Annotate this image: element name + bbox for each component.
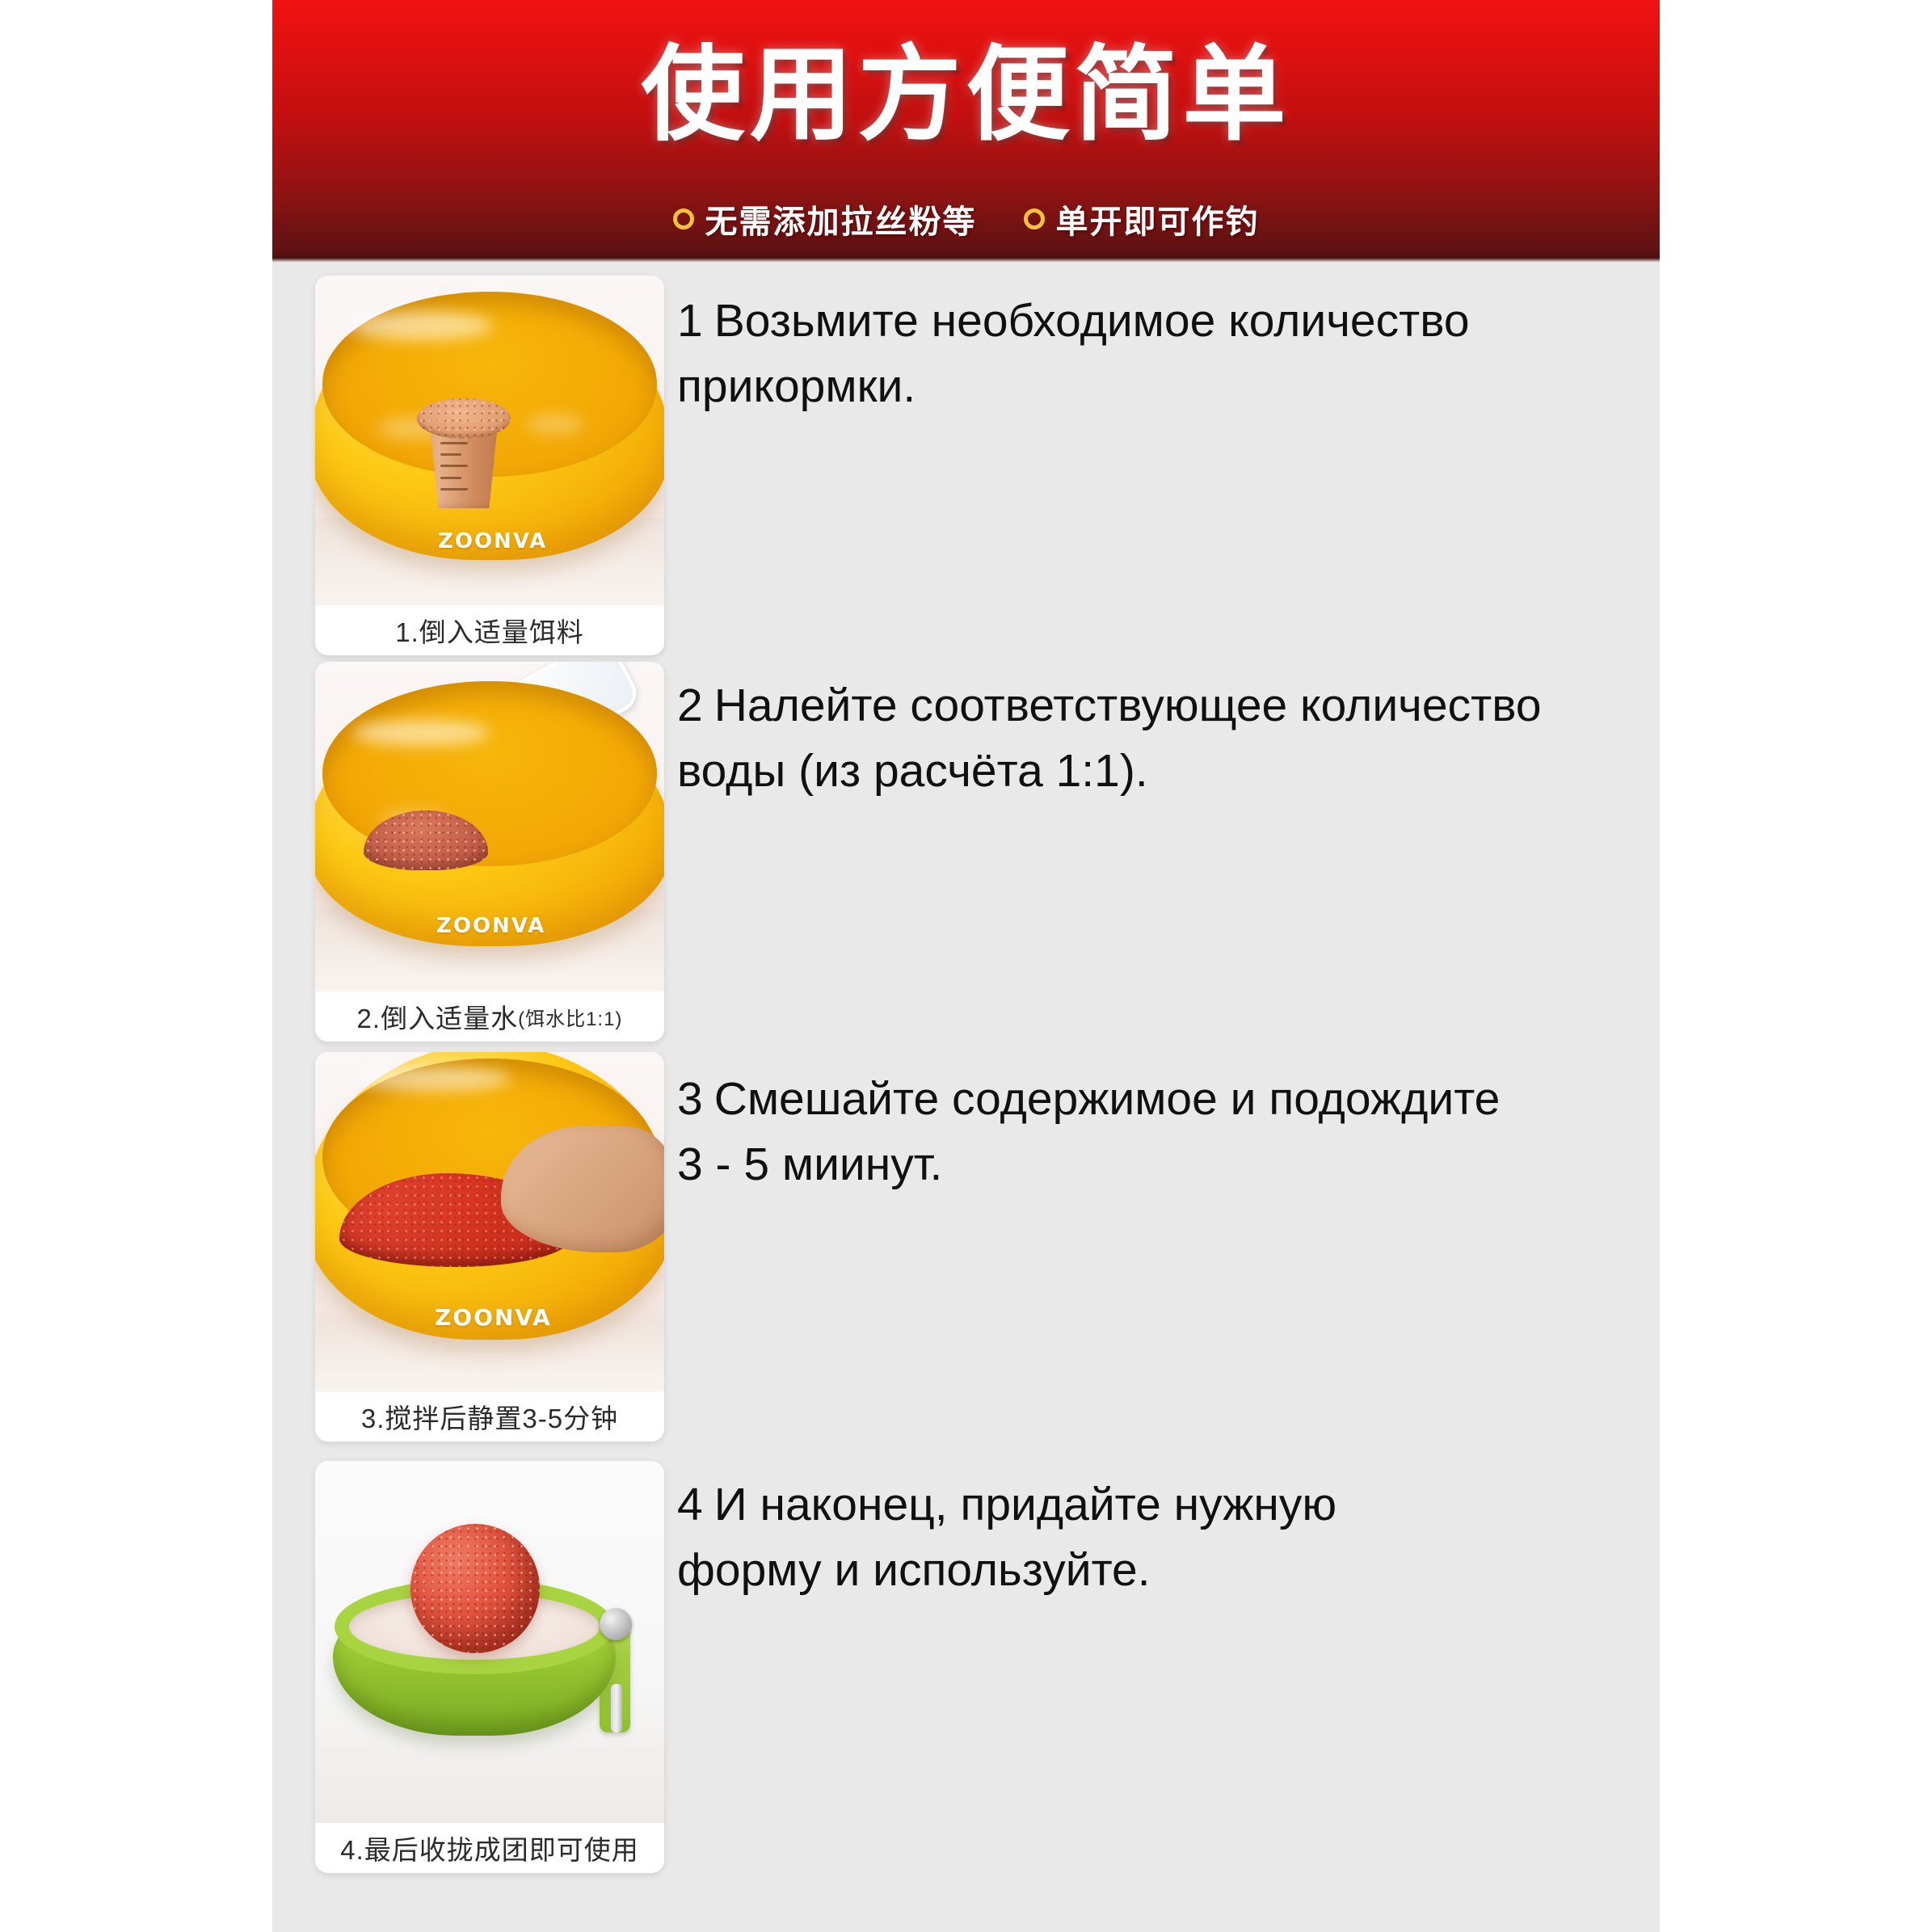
step-4-photo: [315, 1461, 664, 1823]
step-4-card: 4.最后收拢成团即可使用: [315, 1461, 664, 1873]
step-3-number: 3: [677, 1073, 703, 1125]
mold-pin: [600, 1608, 632, 1640]
step-4-text: 4И наконец, придайте нужную форму и испо…: [677, 1472, 1550, 1603]
step-3-line-1: Смешайте содержимое и подождите: [714, 1073, 1501, 1125]
step-2-caption-small: (饵水比1:1): [518, 1003, 622, 1031]
step-2-card: ZOONVA 2.倒入适量水(饵水比1:1): [315, 662, 664, 1042]
banner-bullet-2: 单开即可作钓: [1024, 196, 1260, 242]
step-3-caption-main: 3.搅拌后静置3-5分钟: [361, 1397, 618, 1436]
step-1-caption-main: 1.倒入适量饵料: [395, 611, 584, 650]
page-root: 使用方便简单 无需添加拉丝粉等 单开即可作钓: [0, 0, 1932, 1932]
step-2-text: 2Налейте соответствующее количество воды…: [677, 673, 1647, 804]
step-2-caption-main: 2.倒入适量水: [357, 997, 519, 1036]
step-4-caption: 4.最后收拢成团即可使用: [315, 1823, 664, 1873]
step-4-caption-main: 4.最后收拢成团即可使用: [340, 1829, 639, 1867]
banner-title: 使用方便简单: [272, 36, 1660, 154]
step-2-caption: 2.倒入适量水(饵水比1:1): [315, 991, 664, 1042]
hand: [501, 1126, 664, 1252]
circle-outline-icon: [673, 208, 694, 229]
step-2-number: 2: [677, 680, 703, 731]
circle-outline-icon: [1024, 208, 1045, 229]
step-3-photo: ZOONVA: [315, 1052, 664, 1391]
banner-bullet-1: 无需添加拉丝粉等: [673, 196, 977, 242]
step-4-number: 4: [677, 1479, 703, 1530]
step-4-line-2: форму и используйте.: [677, 1544, 1151, 1596]
bowl-brand: ZOONVA: [436, 914, 545, 938]
banner-bullet-1-label: 无需添加拉丝粉等: [705, 196, 977, 242]
mold-rod: [611, 1684, 622, 1732]
step-3-card: ZOONVA 3.搅拌后静置3-5分钟: [315, 1052, 664, 1442]
step-3-text: 3Смешайте содержимое и подождите 3 - 5 м…: [677, 1067, 1614, 1198]
step-1-photo: ZOONVA: [315, 276, 664, 605]
promo-banner: 使用方便简单 无需添加拉丝粉等 单开即可作钓: [272, 0, 1660, 263]
step-1-line-1: Возьмите необходимое количество: [714, 295, 1470, 347]
bait-ball: [410, 1524, 540, 1653]
banner-bullet-2-label: 单开即可作钓: [1056, 196, 1260, 242]
step-2-line-2: воды (из расчёта 1:1).: [677, 745, 1148, 797]
step-2-line-1: Налейте соответствующее количество: [714, 680, 1542, 731]
step-1-caption: 1.倒入适量饵料: [315, 605, 664, 655]
bowl-brand: ZOONVA: [438, 529, 547, 554]
bowl-brand: ZOONVA: [435, 1304, 552, 1331]
step-4-line-1: И наконец, придайте нужную: [714, 1479, 1336, 1530]
banner-subtitle-row: 无需添加拉丝粉等 单开即可作钓: [272, 196, 1660, 242]
step-2-photo: ZOONVA: [315, 662, 664, 991]
step-1-line-2: прикормки.: [677, 360, 915, 412]
step-1-card: ZOONVA 1.倒入适量饵料: [315, 276, 664, 655]
step-1-text: 1Возьмите необходимое количество прикорм…: [677, 288, 1631, 419]
step-3-caption: 3.搅拌后静置3-5分钟: [315, 1391, 664, 1442]
step-1-number: 1: [677, 295, 703, 347]
step-3-line-2: 3 - 5 миинут.: [677, 1139, 942, 1190]
